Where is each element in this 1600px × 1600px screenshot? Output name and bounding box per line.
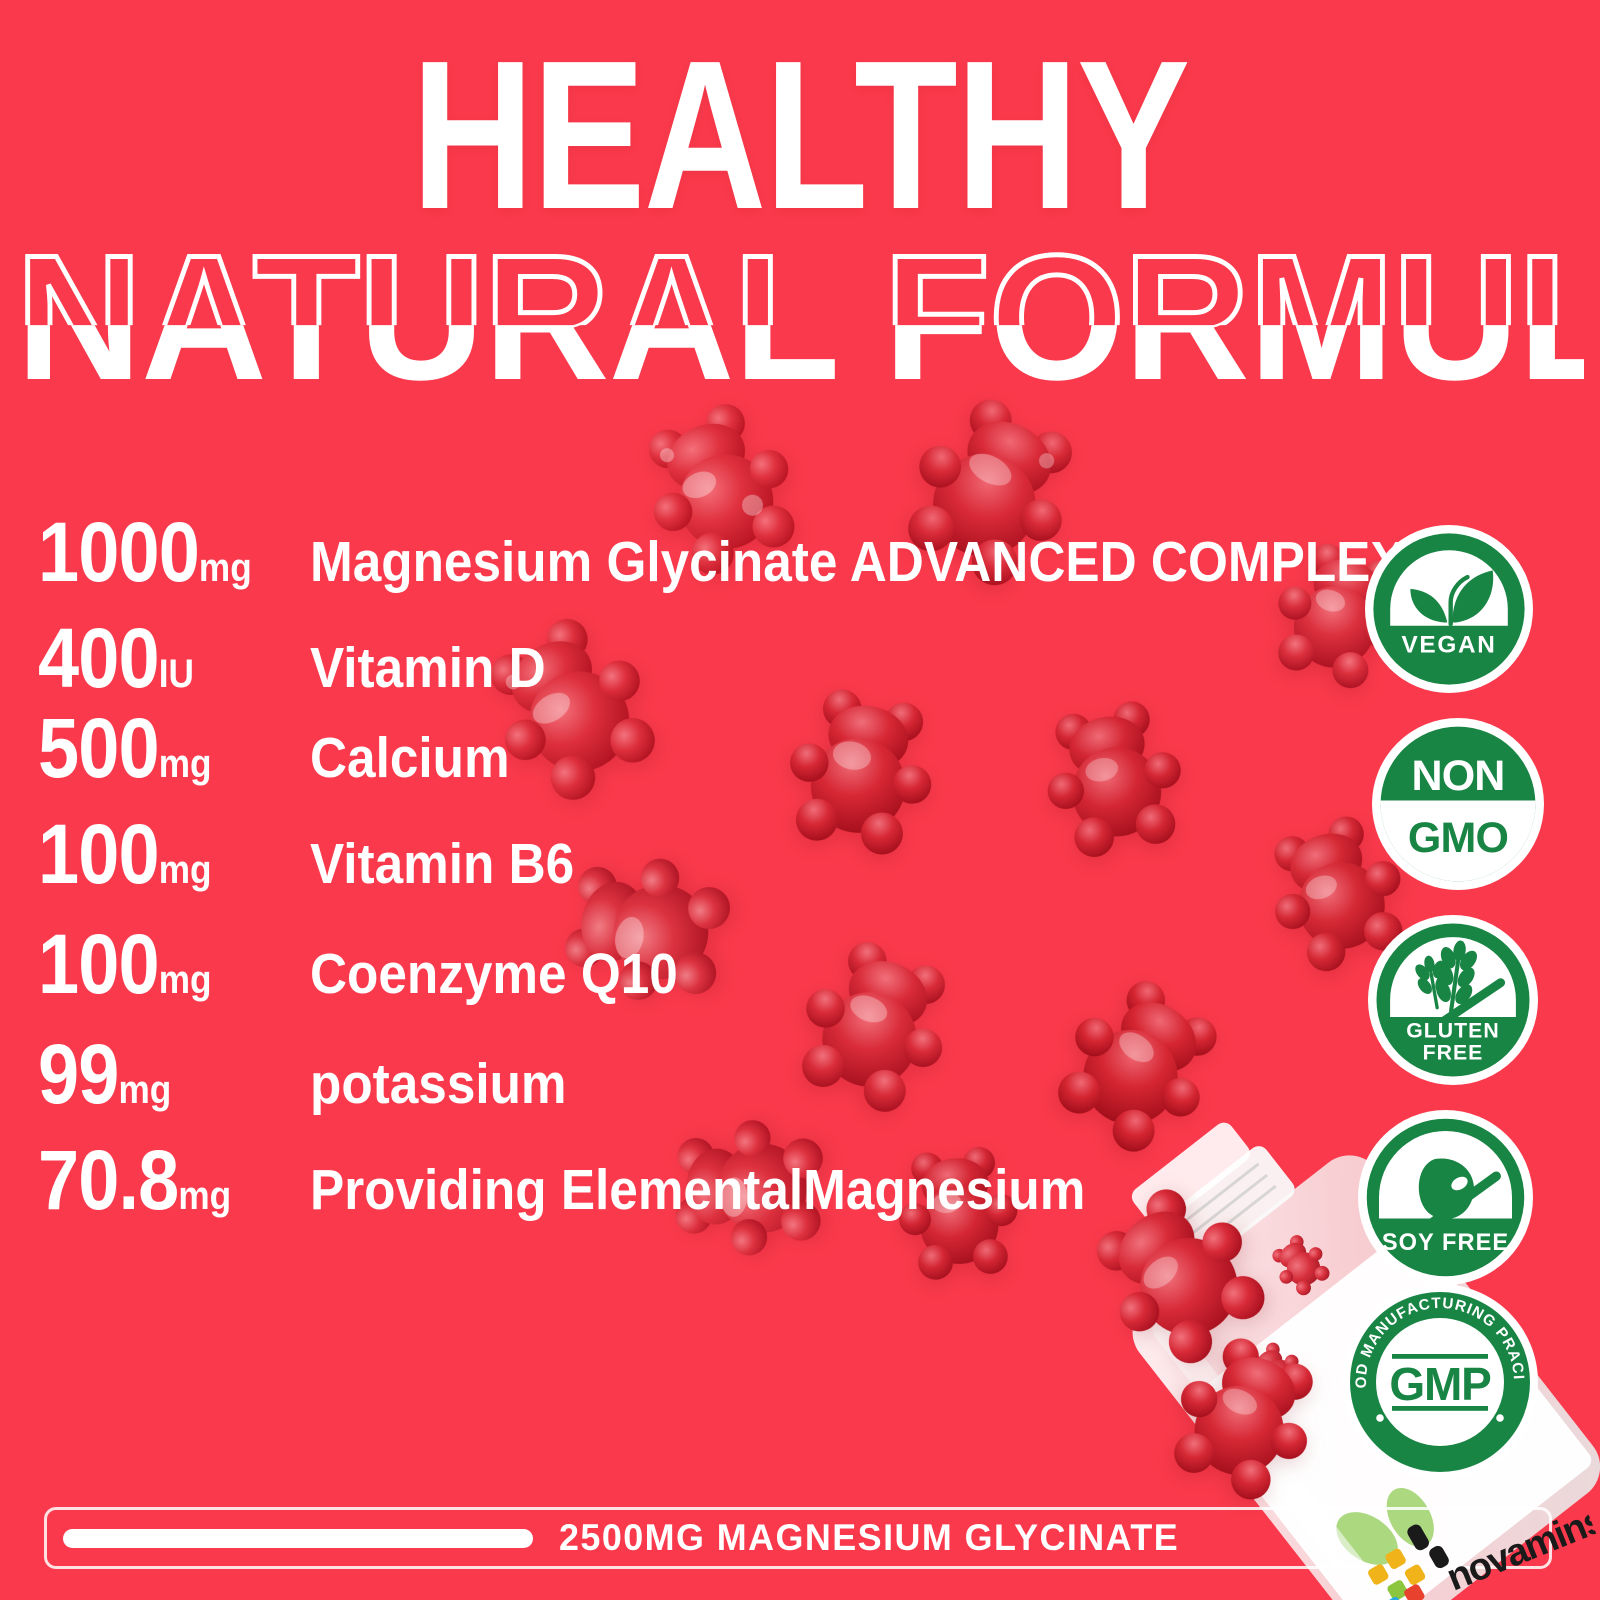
badge-soy-free: SOY FREE [1358, 1110, 1533, 1285]
ingredient-unit: mg [199, 546, 252, 590]
ingredient-row: 400IU Vitamin D [38, 616, 1258, 700]
ingredient-list: 1000mg Magnesium Glycinate ADVANCED COMP… [38, 510, 1258, 1236]
ingredient-unit: IU [159, 652, 194, 696]
ingredient-amount: 99mg [38, 1032, 277, 1116]
banner-progress-bar [63, 1529, 533, 1548]
ingredient-amount: 100mg [38, 922, 277, 1006]
ingredient-label: Vitamin D [310, 640, 546, 697]
ingredient-row: 70.8mg Providing ElementalMagnesium [38, 1138, 1258, 1222]
badge-gluten-label: GLUTEN [1406, 1018, 1499, 1042]
ingredient-row: 99mg potassium [38, 1032, 1258, 1116]
ingredient-amount: 400IU [38, 616, 277, 700]
ingredient-unit: mg [118, 1068, 171, 1112]
ingredient-row: 1000mg Magnesium Glycinate ADVANCED COMP… [38, 510, 1258, 594]
badge-free-label: FREE [1423, 1041, 1484, 1065]
ingredient-row: 100mg Coenzyme Q10 [38, 922, 1258, 1006]
ingredient-label: Providing ElementalMagnesium [310, 1162, 1085, 1219]
bottom-banner: 2500MG MAGNESIUM GLYCINATE [44, 1507, 1552, 1569]
banner-text: 2500MG MAGNESIUM GLYCINATE [559, 1517, 1179, 1559]
headline-line-natural-formula: NATURAL FORMULA NATURAL FORMULA [0, 223, 1600, 413]
ingredient-label: potassium [310, 1056, 567, 1113]
headline-solid-layer: NATURAL FORMULA [16, 223, 1584, 413]
ingredient-label: Magnesium Glycinate ADVANCED COMPLEX [310, 534, 1405, 591]
badge-gluten-free: GLUTEN FREE [1368, 915, 1538, 1085]
ingredient-unit: mg [178, 1174, 231, 1218]
ingredient-row: 100mg Vitamin B6 [38, 812, 1258, 896]
badge-gmp: GOOD MANUFACTURING PRACITCE CERTIFIED GM… [1340, 1282, 1540, 1482]
badge-vegan-label: VEGAN [1402, 632, 1497, 659]
badge-soy-free-label: SOY FREE [1382, 1230, 1509, 1256]
badge-non-gmo: NON GMO [1372, 718, 1544, 890]
ingredient-label: Calcium [310, 730, 510, 787]
ingredient-unit: mg [159, 742, 212, 786]
product-infographic: HEALTHY NATURAL FORMULA NATURAL FORMULA … [0, 0, 1600, 1600]
badge-gmo-label: GMO [1408, 814, 1508, 862]
ingredient-unit: mg [159, 958, 212, 1002]
badge-non-label: NON [1412, 752, 1505, 800]
ingredient-label: Vitamin B6 [310, 836, 574, 893]
badge-vegan: VEGAN [1365, 525, 1533, 693]
headline-outline-layer: NATURAL FORMULA [16, 223, 1584, 413]
ingredient-label: Coenzyme Q10 [310, 946, 678, 1003]
headline-line-healthy: HEALTHY [160, 42, 1440, 229]
ingredient-amount: 500mg [38, 706, 277, 790]
headline-block: HEALTHY NATURAL FORMULA NATURAL FORMULA [0, 0, 1600, 413]
ingredient-amount: 70.8mg [38, 1138, 277, 1222]
ingredient-unit: mg [159, 848, 212, 892]
ingredient-row: 500mg Calcium [38, 706, 1258, 790]
ingredient-amount: 1000mg [38, 510, 277, 594]
ingredient-amount: 100mg [38, 812, 277, 896]
gmp-center-text: GMP [1389, 1358, 1491, 1410]
